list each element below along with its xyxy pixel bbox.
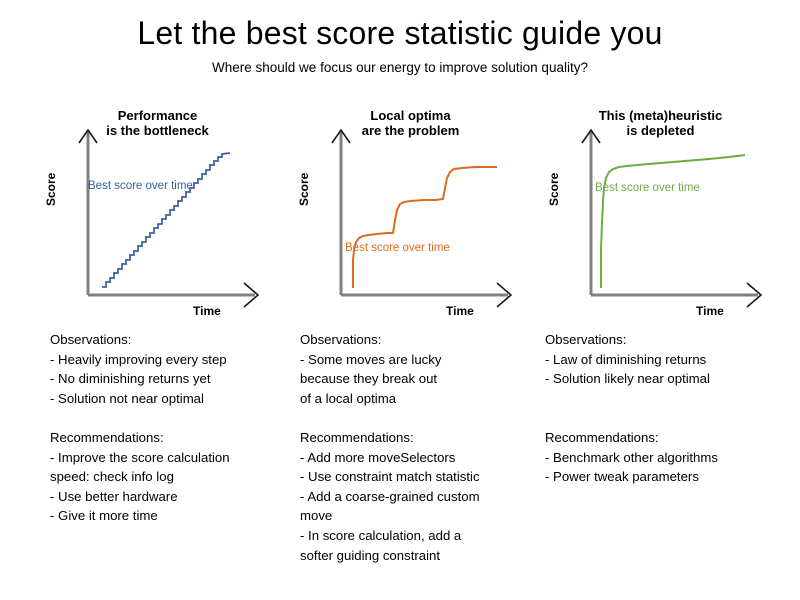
chart-panel-depleted: This (meta)heuristic is depleted Score T… (533, 104, 788, 324)
page-title: Let the best score statistic guide you (0, 16, 800, 51)
series-line-best-score (353, 167, 497, 288)
recommendations-heading: Recommendations: (300, 428, 532, 448)
chart-svg-depleted (533, 110, 788, 324)
x-axis-label: Time (446, 304, 474, 318)
observation-item: - Some moves are lucky (300, 350, 532, 370)
y-axis-label: Score (44, 173, 58, 206)
chart-svg-performance (30, 110, 285, 324)
observation-item: - Law of diminishing returns (545, 350, 785, 370)
recommendation-item: - Use constraint match statistic (300, 467, 532, 487)
section-spacer (300, 408, 532, 428)
advice-column-performance: Observations: - Heavily improving every … (50, 330, 285, 526)
observation-item: - No diminishing returns yet (50, 369, 285, 389)
recommendations-heading: Recommendations: (545, 428, 785, 448)
series-label-best-score: Best score over time (345, 242, 450, 254)
recommendation-item-cont: move (300, 506, 532, 526)
y-axis-label: Score (297, 173, 311, 206)
observations-heading: Observations: (545, 330, 785, 350)
chart-panels-row: Performance is the bottleneck Score Time… (0, 104, 800, 324)
section-spacer (50, 408, 285, 428)
observation-item: - Solution likely near optimal (545, 369, 785, 389)
observation-item: - Solution not near optimal (50, 389, 285, 409)
chart-svg-local-optima (283, 110, 538, 324)
recommendation-item-cont: softer guiding constraint (300, 546, 532, 566)
advice-column-local-optima: Observations: - Some moves are lucky bec… (300, 330, 532, 565)
recommendation-item: - Add a coarse-grained custom (300, 487, 532, 507)
y-axis-label: Score (547, 173, 561, 206)
recommendation-item-cont: speed: check info log (50, 467, 285, 487)
advice-columns: Observations: - Heavily improving every … (0, 330, 800, 600)
recommendation-item: - Benchmark other algorithms (545, 448, 785, 468)
section-spacer (545, 408, 785, 428)
recommendation-item: - In score calculation, add a (300, 526, 532, 546)
observations-heading: Observations: (50, 330, 285, 350)
slide-header: Let the best score statistic guide you W… (0, 0, 800, 75)
recommendation-item: - Improve the score calculation (50, 448, 285, 468)
series-line-best-score (102, 153, 230, 287)
series-label-best-score: Best score over time (88, 180, 193, 192)
observation-item-cont: because they break out (300, 369, 532, 389)
chart-plot-area: Score Time Best score over time (283, 110, 538, 324)
x-axis-label: Time (696, 304, 724, 318)
x-axis-label: Time (193, 304, 221, 318)
page-subtitle: Where should we focus our energy to impr… (0, 60, 800, 75)
series-label-best-score: Best score over time (595, 182, 700, 194)
advice-column-depleted: Observations: - Law of diminishing retur… (545, 330, 785, 487)
recommendation-item: - Add more moveSelectors (300, 448, 532, 468)
section-spacer (545, 389, 785, 409)
chart-plot-area: Score Time Best score over time (30, 110, 285, 324)
chart-panel-local-optima: Local optima are the problem Score Time … (283, 104, 538, 324)
recommendation-item: - Use better hardware (50, 487, 285, 507)
observations-heading: Observations: (300, 330, 532, 350)
chart-panel-performance: Performance is the bottleneck Score Time… (30, 104, 285, 324)
recommendation-item: - Give it more time (50, 506, 285, 526)
observation-item-cont: of a local optima (300, 389, 532, 409)
series-line-best-score (601, 155, 745, 288)
chart-plot-area: Score Time Best score over time (533, 110, 788, 324)
observation-item: - Heavily improving every step (50, 350, 285, 370)
recommendations-heading: Recommendations: (50, 428, 285, 448)
recommendation-item: - Power tweak parameters (545, 467, 785, 487)
